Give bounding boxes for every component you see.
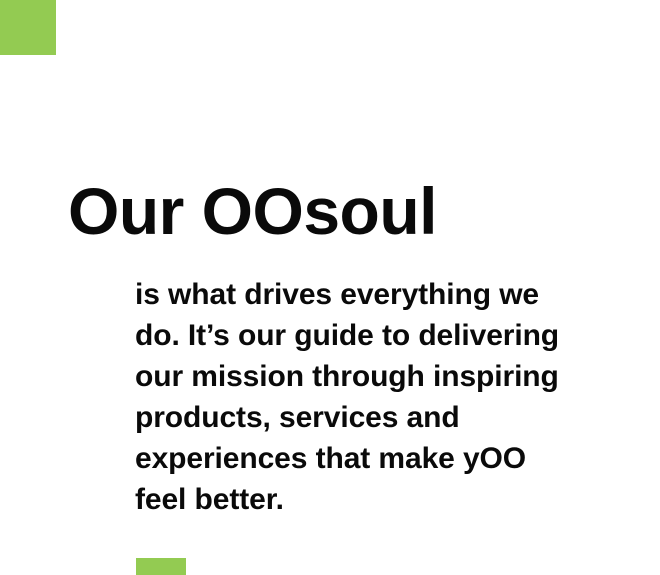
body-line: experiences that make yOO — [135, 438, 660, 479]
page-title: Our OOsoul — [68, 176, 437, 246]
accent-square-decoration — [0, 0, 56, 55]
body-line: is what drives everything we — [135, 274, 660, 315]
body-line: our mission through inspiring — [135, 356, 660, 397]
body-line: do. It’s our guide to delivering — [135, 315, 660, 356]
page-root: Our OOsoul is what drives everything we … — [0, 0, 660, 575]
body-paragraph: is what drives everything we do. It’s ou… — [135, 274, 660, 520]
accent-bar-decoration — [136, 558, 186, 575]
body-line: products, services and — [135, 397, 660, 438]
body-line: feel better. — [135, 479, 660, 520]
